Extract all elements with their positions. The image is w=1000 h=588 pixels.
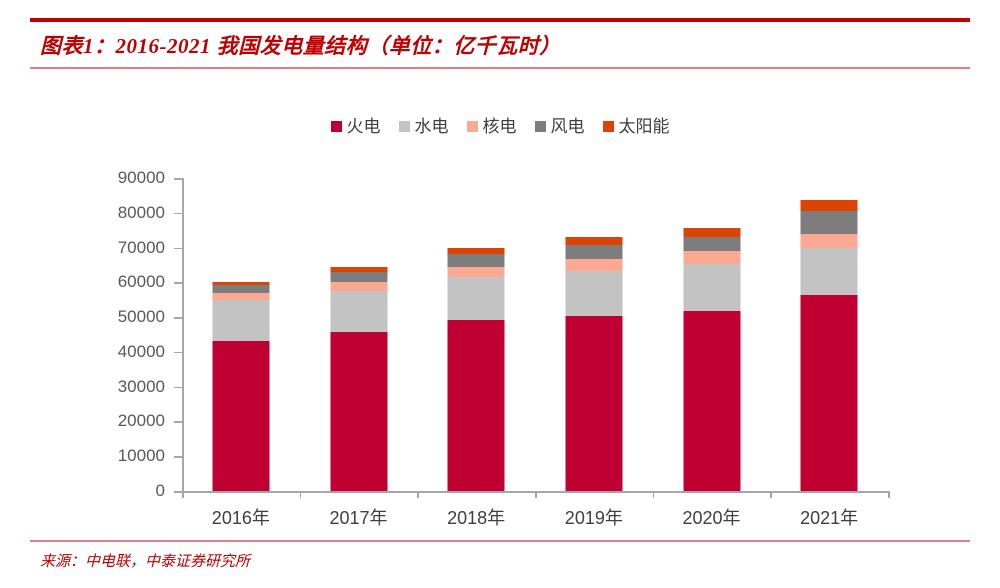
chart-canvas: 0100002000030000400005000060000700008000… (0, 160, 1000, 540)
y-axis-tick-label: 80000 (85, 203, 165, 223)
bar-column[interactable] (683, 228, 740, 491)
y-axis-tick (174, 317, 182, 319)
y-axis-tick (174, 213, 182, 215)
y-axis-labels: 0100002000030000400005000060000700008000… (85, 160, 165, 540)
page-title: 图表1：2016-2021 我国发电量结构（单位：亿千瓦时） (30, 22, 970, 67)
x-axis-tick-label: 2017年 (329, 504, 387, 530)
bar-segment-风电[interactable] (565, 245, 622, 259)
bar-segment-核电[interactable] (212, 293, 269, 300)
bar-segment-水电[interactable] (565, 271, 622, 316)
bar-segment-核电[interactable] (330, 282, 387, 291)
bar-column[interactable] (212, 282, 269, 491)
bar-segment-风电[interactable] (212, 285, 269, 293)
y-axis-tick-label: 50000 (85, 307, 165, 327)
bar-segment-太阳能[interactable] (683, 228, 740, 237)
y-axis-tick-label: 90000 (85, 168, 165, 188)
legend-label: 风电 (551, 118, 585, 135)
x-axis-tick (653, 491, 655, 498)
bar-segment-火电[interactable] (683, 311, 740, 491)
x-axis-tick-label: 2020年 (682, 504, 740, 530)
bar-segment-风电[interactable] (801, 211, 858, 234)
y-axis-tick-label: 70000 (85, 238, 165, 258)
bar-column[interactable] (565, 237, 622, 491)
bar-segment-风电[interactable] (448, 254, 505, 267)
bar-column[interactable] (448, 248, 505, 491)
x-axis-tick-label: 2021年 (800, 504, 858, 530)
bar-segment-核电[interactable] (565, 259, 622, 271)
bar-segment-火电[interactable] (801, 295, 858, 491)
y-axis-tick-label: 0 (85, 481, 165, 501)
plot-area (182, 178, 888, 491)
legend-swatch-icon (399, 121, 410, 132)
x-axis-tick (770, 491, 772, 498)
bar-segment-火电[interactable] (330, 332, 387, 491)
y-axis-tick (174, 491, 182, 493)
x-axis-tick-label: 2019年 (565, 504, 623, 530)
x-axis-tick (888, 491, 890, 498)
y-axis-tick-label: 40000 (85, 342, 165, 362)
y-axis-tick (174, 421, 182, 423)
bar-column[interactable] (801, 200, 858, 491)
y-axis-tick-label: 60000 (85, 272, 165, 292)
x-axis-tick (182, 491, 184, 498)
x-axis-tick (535, 491, 537, 498)
y-axis-tick (174, 282, 182, 284)
bar-segment-核电[interactable] (683, 251, 740, 264)
legend-item-风电[interactable]: 风电 (535, 118, 585, 135)
bar-segment-核电[interactable] (448, 267, 505, 277)
legend-label: 太阳能 (619, 118, 670, 135)
chart-legend: 火电水电核电风电太阳能 (0, 118, 1000, 135)
bar-segment-水电[interactable] (448, 277, 505, 320)
legend-swatch-icon (535, 121, 546, 132)
bar-segment-太阳能[interactable] (801, 200, 858, 211)
bar-segment-风电[interactable] (683, 237, 740, 251)
bar-segment-核电[interactable] (801, 234, 858, 248)
y-axis-tick (174, 387, 182, 389)
title-rule-bottom (30, 67, 970, 69)
bar-segment-火电[interactable] (448, 320, 505, 491)
legend-item-火电[interactable]: 火电 (331, 118, 381, 135)
x-axis-tick-label: 2016年 (212, 504, 270, 530)
y-axis-tick-label: 10000 (85, 446, 165, 466)
figure-header: 图表1：2016-2021 我国发电量结构（单位：亿千瓦时） (30, 18, 970, 69)
y-axis-tick-label: 20000 (85, 411, 165, 431)
legend-swatch-icon (603, 121, 614, 132)
source-note: 来源：中电联，中泰证券研究所 (30, 542, 970, 571)
bar-segment-太阳能[interactable] (565, 237, 622, 245)
y-axis-tick-label: 30000 (85, 377, 165, 397)
legend-item-水电[interactable]: 水电 (399, 118, 449, 135)
figure-footer: 来源：中电联，中泰证券研究所 (30, 540, 970, 571)
bar-segment-水电[interactable] (801, 248, 858, 295)
bar-column[interactable] (330, 267, 387, 491)
legend-item-太阳能[interactable]: 太阳能 (603, 118, 670, 135)
y-axis-tick (174, 352, 182, 354)
legend-label: 核电 (483, 118, 517, 135)
x-axis-tick (417, 491, 419, 498)
legend-swatch-icon (467, 121, 478, 132)
legend-item-核电[interactable]: 核电 (467, 118, 517, 135)
bar-segment-火电[interactable] (565, 316, 622, 491)
x-axis-tick-label: 2018年 (447, 504, 505, 530)
bar-segment-风电[interactable] (330, 272, 387, 283)
x-axis-tick (300, 491, 302, 498)
y-axis-tick (174, 248, 182, 250)
bar-segment-水电[interactable] (330, 291, 387, 332)
y-axis-tick (174, 456, 182, 458)
legend-swatch-icon (331, 121, 342, 132)
bar-segment-火电[interactable] (212, 341, 269, 491)
bar-segment-水电[interactable] (683, 264, 740, 311)
bar-segment-水电[interactable] (212, 300, 269, 341)
y-axis-tick (174, 178, 182, 180)
legend-label: 水电 (415, 118, 449, 135)
legend-label: 火电 (347, 118, 381, 135)
